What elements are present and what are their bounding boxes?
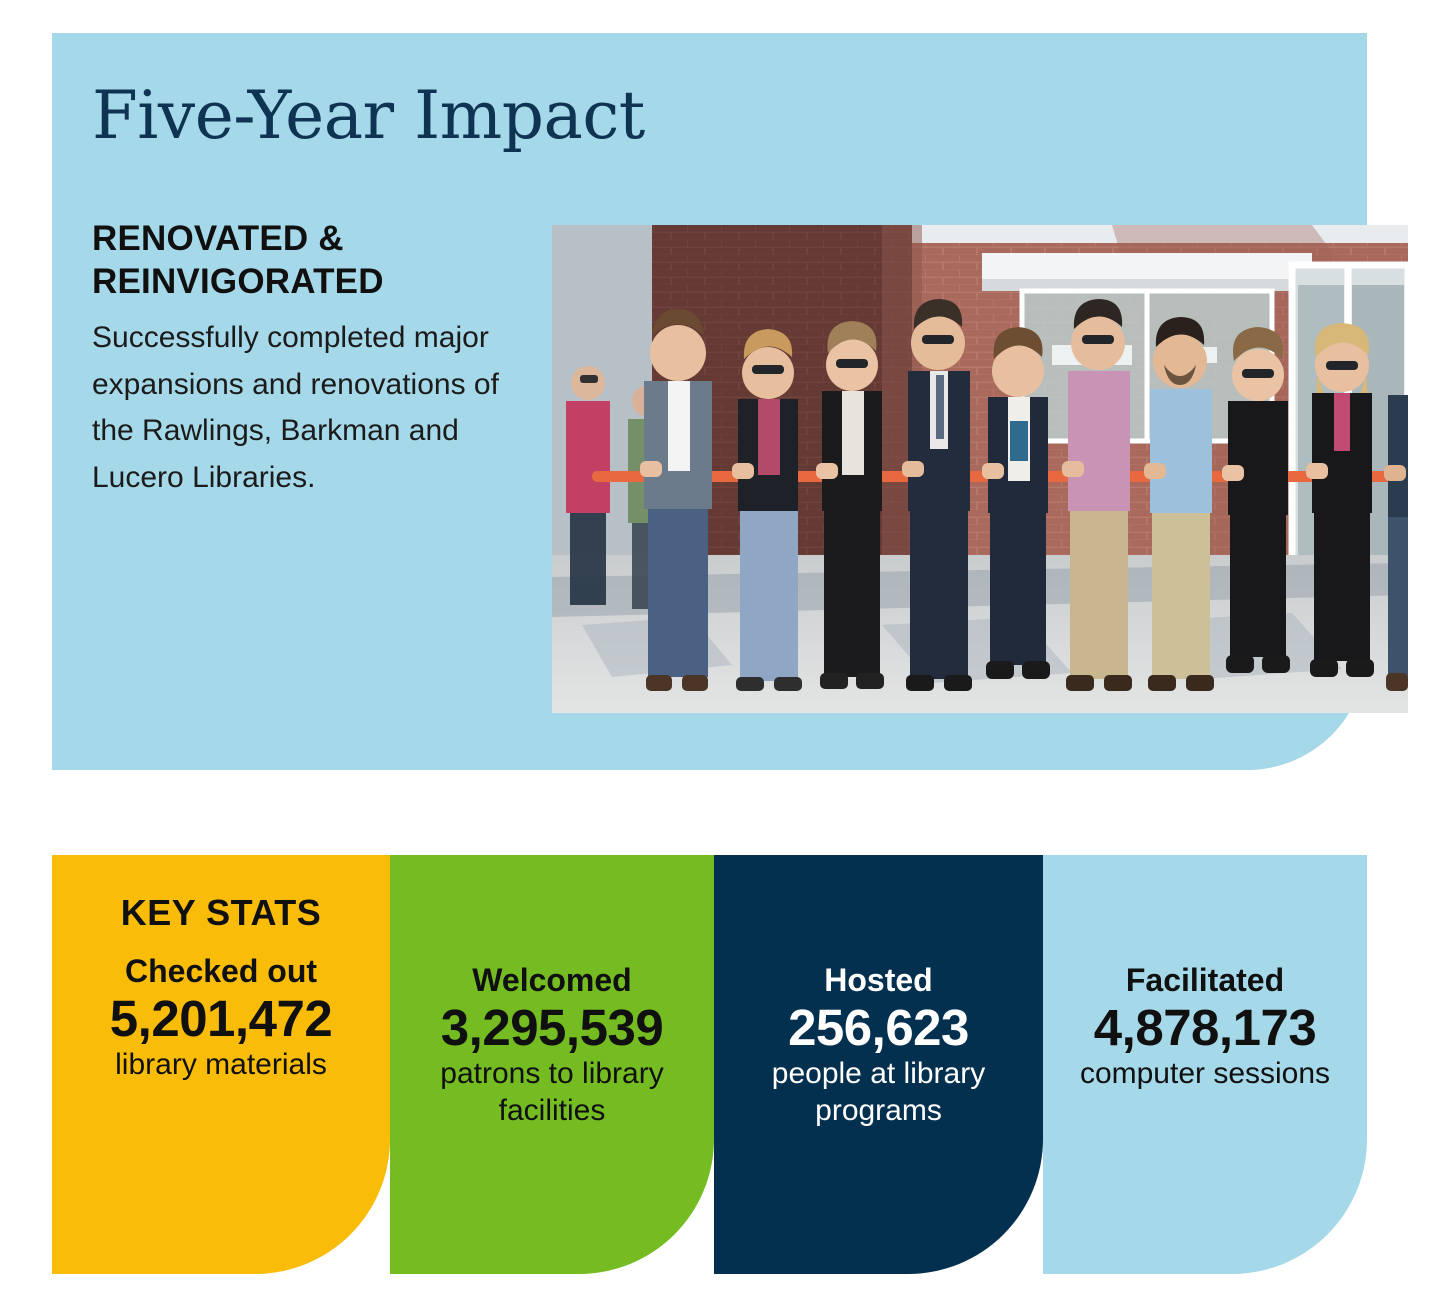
stat-caption: library materials [58,1047,384,1084]
key-stats-heading: KEY STATS [121,895,322,931]
stat-content: Checked out 5,201,472 library materials [52,953,390,1084]
stat-content: Welcomed 3,295,539 patrons to library fa… [390,962,714,1129]
stat-verb: Hosted [720,962,1037,999]
key-stats-bar: KEY STATS Checked out 5,201,472 library … [52,855,1367,1274]
hero-kicker-heading: RENOVATED & REINVIGORATED [92,218,507,303]
page-title: Five-Year Impact [92,81,645,150]
stat-panel-welcomed: Welcomed 3,295,539 patrons to library fa… [390,855,714,1274]
stat-panel-facilitated: Facilitated 4,878,173 computer sessions [1043,855,1367,1274]
stat-panel-checked-out: KEY STATS Checked out 5,201,472 library … [52,855,390,1274]
stat-panel-hosted: Hosted 256,623 people at library program… [714,855,1043,1274]
stat-content: Hosted 256,623 people at library program… [714,962,1043,1129]
stat-verb: Facilitated [1049,962,1361,999]
ribbon-cutting-photo [552,225,1408,713]
stat-caption: patrons to library facilities [396,1056,708,1129]
stat-caption: people at library programs [720,1056,1037,1129]
stat-verb: Welcomed [396,962,708,999]
hero-text-column: RENOVATED & REINVIGORATED Successfully c… [92,218,507,501]
hero-body-paragraph: Successfully completed major expansions … [92,315,507,501]
stat-number: 5,201,472 [58,990,384,1047]
stat-number: 4,878,173 [1049,999,1361,1056]
stat-verb: Checked out [58,953,384,990]
stat-number: 256,623 [720,999,1037,1056]
stat-number: 3,295,539 [396,999,708,1056]
stat-content: Facilitated 4,878,173 computer sessions [1043,962,1367,1093]
stat-caption: computer sessions [1049,1056,1361,1093]
photo-illustration [552,225,1408,713]
